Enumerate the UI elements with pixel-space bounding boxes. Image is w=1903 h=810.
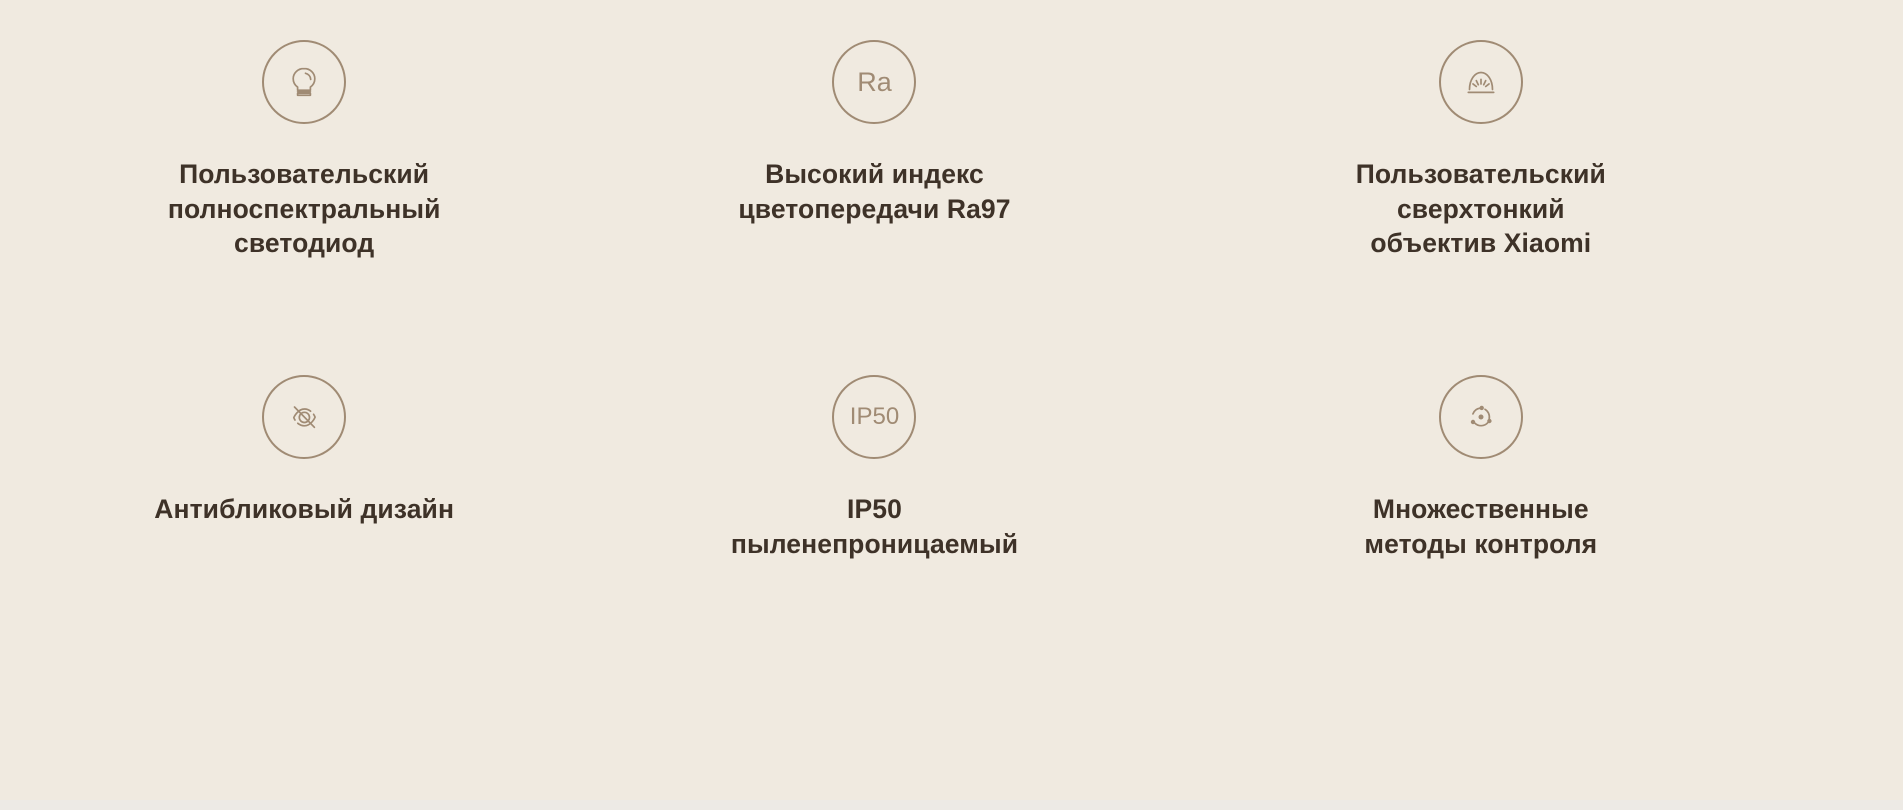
bottom-edge-divider <box>0 800 1903 810</box>
anti-glare-eye-icon <box>262 375 346 459</box>
feature-item-led: Пользовательский полноспектральный свето… <box>0 40 621 375</box>
feature-label: Пользовательский полноспектральный свето… <box>168 157 441 261</box>
feature-item-ra97: Ra Высокий индекс цветопередачи Ra97 <box>557 40 1191 375</box>
multi-control-icon <box>1439 375 1523 459</box>
diffuser-lens-icon <box>1439 40 1523 124</box>
feature-item-multi-control: Множественные методы контроля <box>1164 375 1798 710</box>
feature-item-lens: Пользовательский сверхтонкий объектив Xi… <box>1164 40 1798 375</box>
ip50-rating-icon-text: IP50 <box>850 405 899 429</box>
feature-label: Множественные методы контроля <box>1364 492 1597 561</box>
lightbulb-icon <box>262 40 346 124</box>
feature-item-ip50: IP50 IP50 пыленепроницаемый <box>557 375 1191 710</box>
feature-item-anti-glare: Антибликовый дизайн <box>0 375 621 710</box>
ra-index-icon-text: Ra <box>857 69 892 96</box>
feature-label: Высокий индекс цветопередачи Ra97 <box>738 157 1010 226</box>
feature-grid: Пользовательский полноспектральный свето… <box>0 0 1903 800</box>
feature-label: Пользовательский сверхтонкий объектив Xi… <box>1356 157 1606 261</box>
feature-label: Антибликовый дизайн <box>154 492 454 527</box>
feature-label: IP50 пыленепроницаемый <box>731 492 1018 561</box>
ra-index-icon: Ra <box>832 40 916 124</box>
ip50-rating-icon: IP50 <box>832 375 916 459</box>
